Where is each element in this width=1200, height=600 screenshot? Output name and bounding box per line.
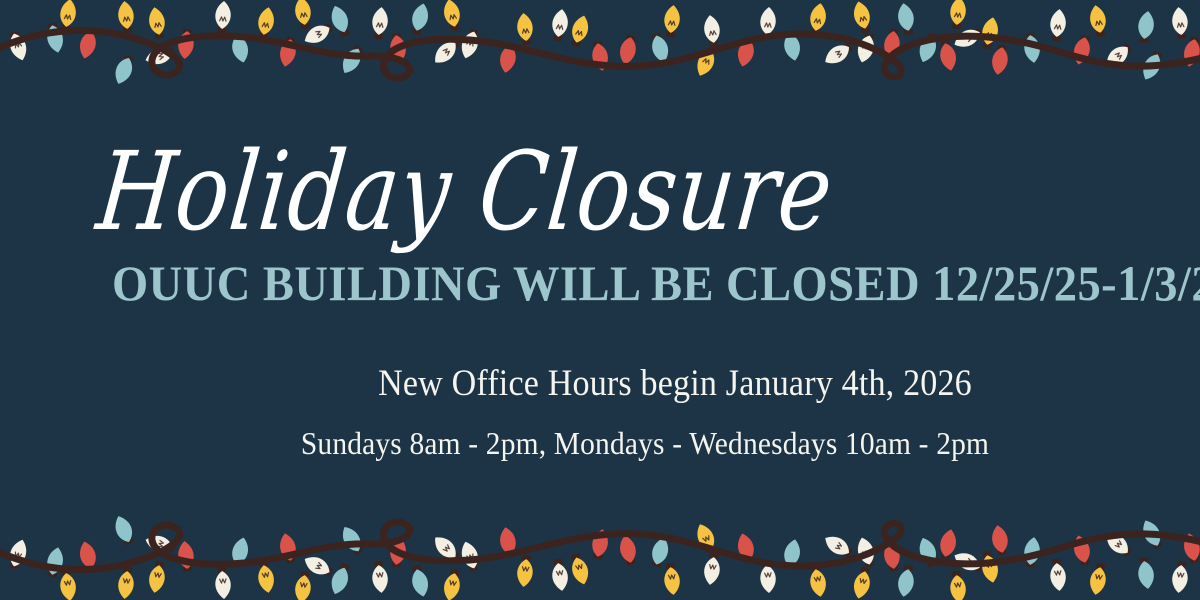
page-title: Holiday Closure [93,138,838,247]
banner-content: Holiday Closure OUUC BUILDING WILL BE CL… [0,0,1200,600]
holiday-closure-banner: Holiday Closure OUUC BUILDING WILL BE CL… [0,0,1200,600]
office-hours-line: Sundays 8am - 2pm, Mondays - Wednesdays … [134,424,1155,462]
closure-dates-heading: OUUC BUILDING WILL BE CLOSED 12/25/25-1/… [112,258,1200,308]
office-hours-block: New Office Hours begin January 4th, 2026… [0,362,1200,462]
new-hours-start-line: New Office Hours begin January 4th, 2026 [192,362,1158,406]
